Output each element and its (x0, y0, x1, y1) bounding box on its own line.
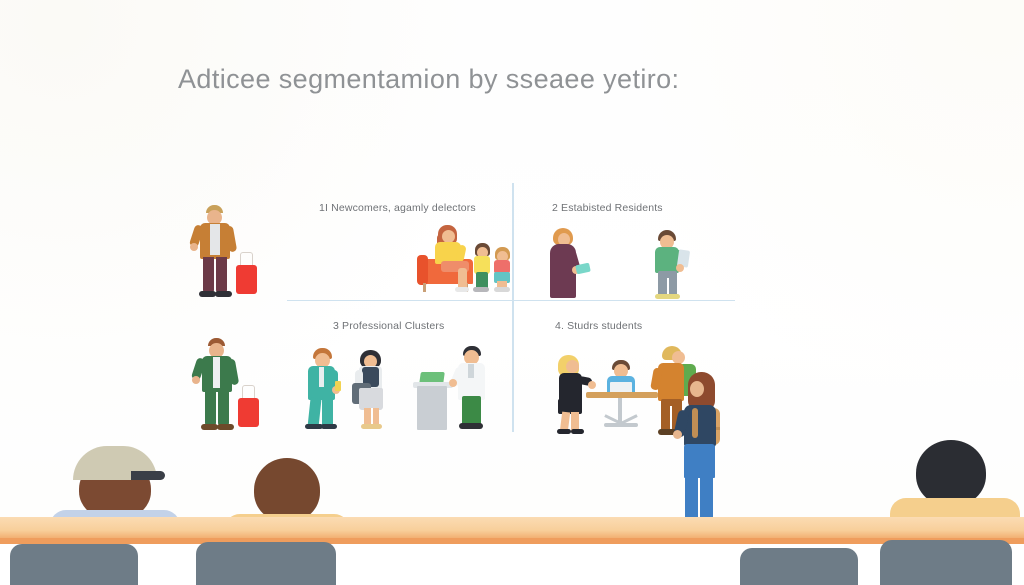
slide-title: Adticee segmentamion by sseaee yetiro: (178, 64, 858, 95)
chair (10, 544, 138, 585)
horizontal-divider (287, 300, 735, 301)
chair (196, 542, 336, 585)
quadrant-label-3: 3 Professional Clusters (333, 320, 444, 332)
chair (880, 540, 1012, 585)
family-group-illustration (417, 225, 517, 295)
quadrant-label-2: 2 Estabisted Residents (552, 202, 663, 214)
vertical-divider (512, 183, 514, 432)
cap-visor (131, 471, 165, 480)
floor (0, 544, 1024, 585)
traveler-woman-illustration (192, 338, 262, 433)
student-at-laptop-illustration (598, 360, 644, 396)
traveler-man-illustration (190, 205, 260, 300)
projection-screen: Adticee segmentamion by sseaee yetiro: 1… (0, 0, 1024, 470)
chair (740, 548, 858, 585)
professional-woman-illustration (352, 350, 394, 430)
presenter-illustration (672, 372, 732, 534)
resident-man-illustration (648, 230, 690, 300)
head (916, 440, 986, 506)
head (254, 458, 320, 522)
doctor-illustration (453, 346, 493, 430)
professional-man-illustration (305, 348, 347, 430)
presentation-scene: Adticee segmentamion by sseaee yetiro: 1… (0, 0, 1024, 585)
resident-woman-illustration (545, 228, 585, 300)
student-desk-illustration (586, 392, 658, 436)
quadrant-label-1: 1I Newcomers, agamly delectors (319, 202, 476, 214)
quadrant-label-4: 4. Studrs students (555, 320, 642, 332)
